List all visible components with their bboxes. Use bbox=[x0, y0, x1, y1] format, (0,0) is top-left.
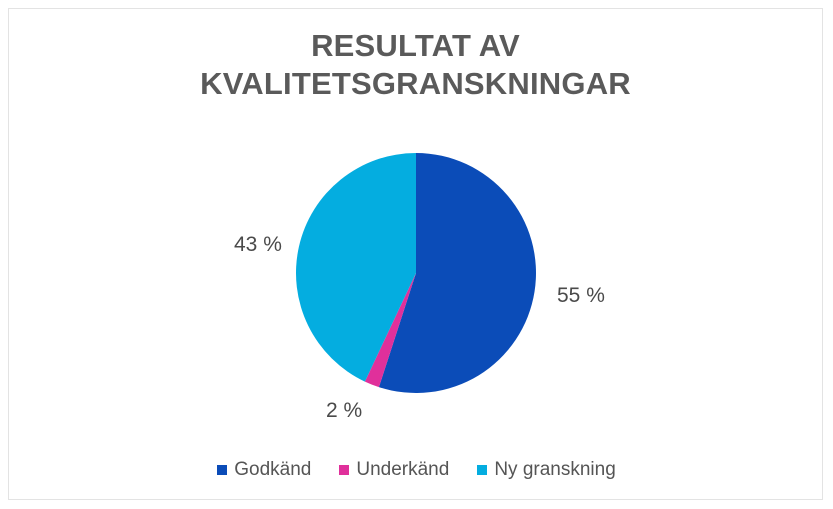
legend-item-underkand[interactable]: Underkänd bbox=[339, 459, 449, 481]
chart-container: RESULTAT AV KVALITETSGRANSKNINGAR 43 % 5… bbox=[8, 8, 823, 500]
legend-label-ny-granskning: Ny granskning bbox=[494, 459, 615, 481]
chart-legend: Godkänd Underkänd Ny granskning bbox=[9, 459, 824, 481]
legend-label-godkand: Godkänd bbox=[234, 459, 311, 481]
legend-item-godkand[interactable]: Godkänd bbox=[217, 459, 311, 481]
legend-swatch-icon-underkand bbox=[339, 465, 349, 475]
legend-item-ny-granskning[interactable]: Ny granskning bbox=[477, 459, 615, 481]
pie-label-ny-granskning: 43 % bbox=[234, 233, 282, 257]
pie-label-godkand: 55 % bbox=[557, 284, 605, 308]
legend-label-underkand: Underkänd bbox=[356, 459, 449, 481]
pie-chart-svg bbox=[9, 9, 824, 501]
legend-swatch-icon-ny-granskning bbox=[477, 465, 487, 475]
legend-swatch-icon-godkand bbox=[217, 465, 227, 475]
pie-label-underkand: 2 % bbox=[326, 399, 362, 423]
pie-chart-plot-area: 43 % 55 % 2 % bbox=[9, 9, 824, 501]
